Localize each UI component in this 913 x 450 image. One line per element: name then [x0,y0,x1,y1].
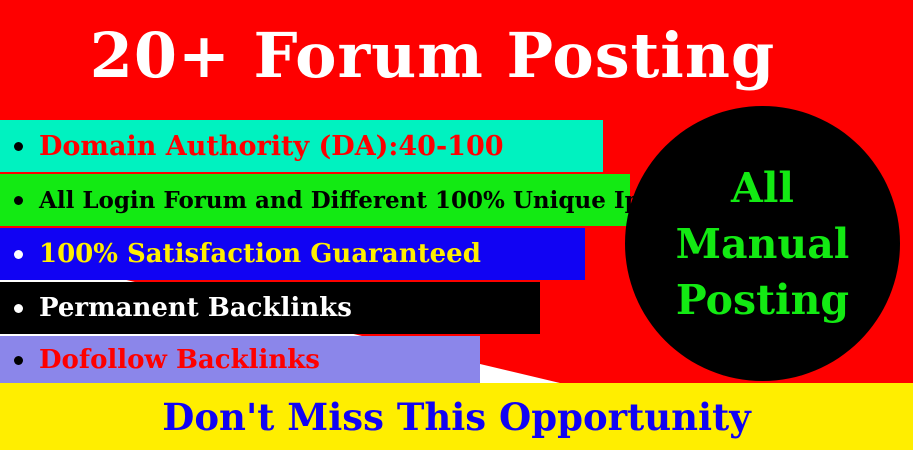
feature-label-4: Permanent Backlinks [39,293,352,323]
feature-row-2: All Login Forum and Different 100% Uniqu… [0,174,630,226]
forum-posting-promo-banner: 20+ Forum Posting Domain Authority (DA):… [0,0,913,450]
feature-label-3: 100% Satisfaction Guaranteed [39,239,481,269]
badge-line-3: Posting [676,272,849,328]
feature-label-5: Dofollow Backlinks [39,345,320,375]
feature-label-2: All Login Forum and Different 100% Uniqu… [39,187,641,214]
all-manual-posting-badge: All Manual Posting [625,106,900,381]
badge-line-1: All [731,160,794,216]
footer-tagline: Don't Miss This Opportunity [162,395,750,439]
bullet-dot-icon [14,356,23,365]
bullet-dot-icon [14,142,23,151]
feature-row-3: 100% Satisfaction Guaranteed [0,228,585,280]
feature-row-1: Domain Authority (DA):40-100 [0,120,603,172]
page-title: 20+ Forum Posting [0,10,865,102]
bullet-dot-icon [14,304,23,313]
bullet-dot-icon [14,196,23,205]
footer-band: Don't Miss This Opportunity [0,383,913,450]
badge-line-2: Manual [676,216,850,272]
feature-label-1: Domain Authority (DA):40-100 [39,131,504,162]
feature-row-5: Dofollow Backlinks [0,336,480,384]
feature-row-4: Permanent Backlinks [0,282,540,334]
bullet-dot-icon [14,250,23,259]
